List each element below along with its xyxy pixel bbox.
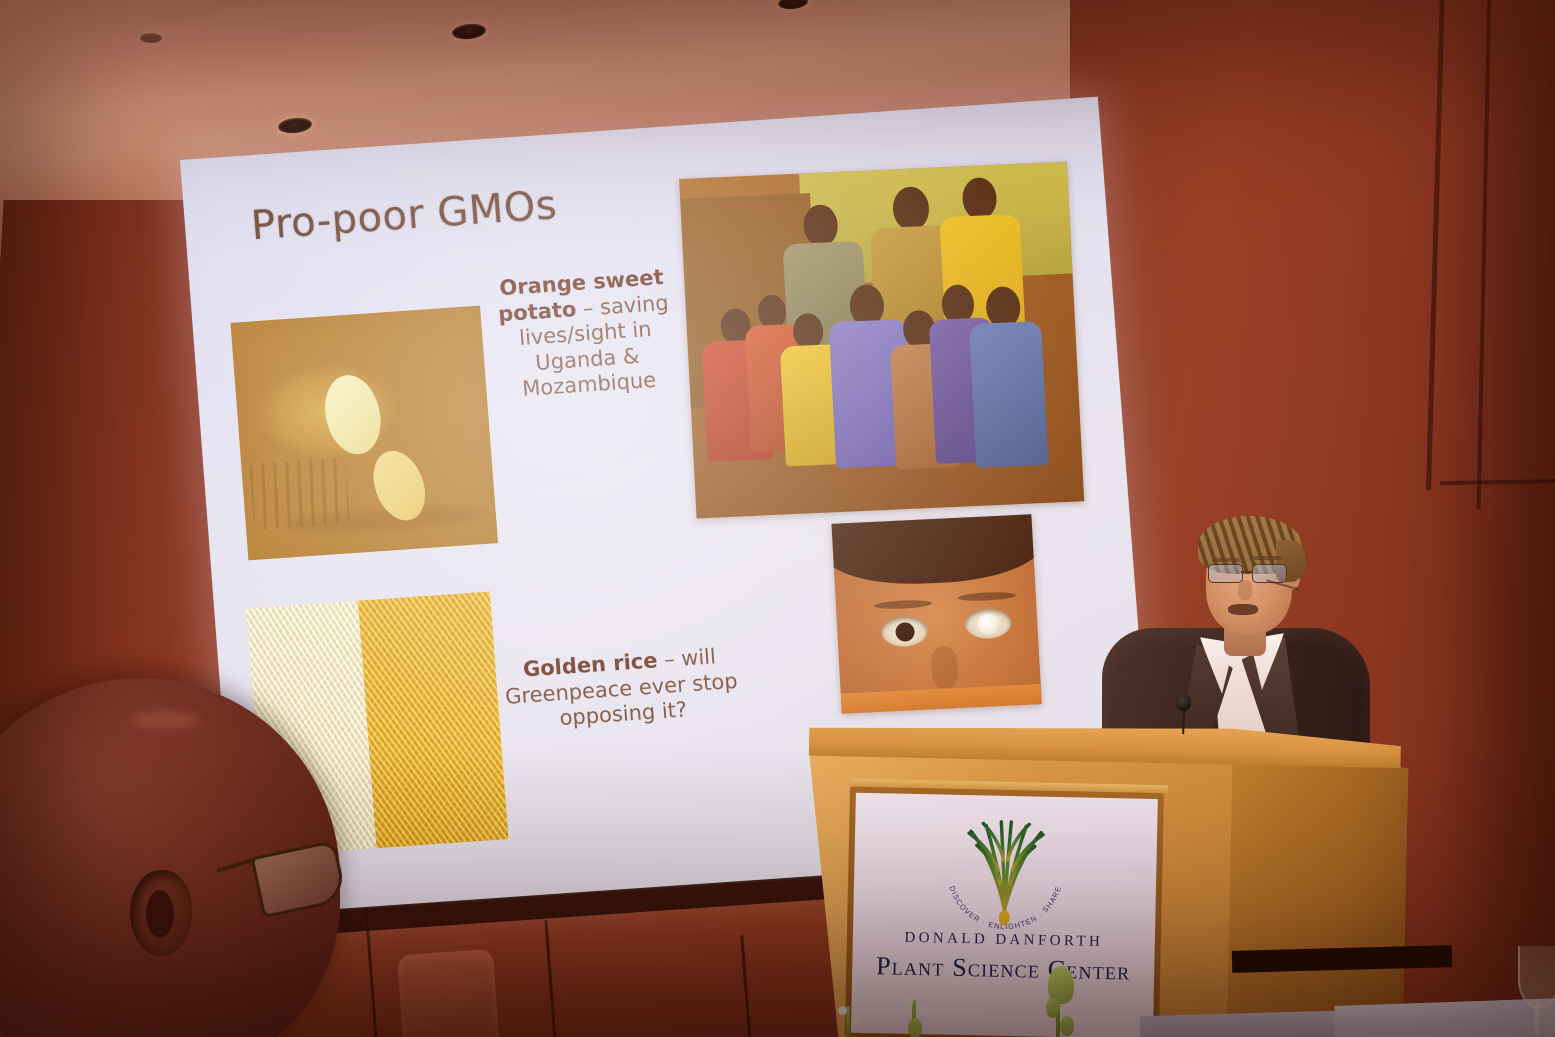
potato-texture bbox=[249, 457, 350, 529]
chair-back bbox=[397, 949, 499, 1037]
glasses-bridge bbox=[1241, 571, 1252, 573]
podium-sign: DISCOVER · ENLIGHTEN · SHARE · NOURISH D… bbox=[851, 793, 1158, 1037]
plant-flower bbox=[838, 1006, 847, 1015]
golden-rice-half bbox=[358, 592, 508, 848]
potato-cut-face bbox=[318, 370, 388, 459]
podium-side-panel bbox=[1221, 743, 1409, 1037]
child-body bbox=[969, 321, 1048, 468]
ear-inner bbox=[146, 890, 174, 938]
lens bbox=[250, 840, 347, 919]
african-family-photo bbox=[679, 162, 1084, 519]
glass-stem bbox=[1535, 1004, 1539, 1034]
eyebrow bbox=[1212, 558, 1240, 562]
microphone-icon bbox=[1176, 694, 1191, 711]
plant-bud bbox=[1060, 1016, 1074, 1036]
plant-flower bbox=[904, 998, 913, 1007]
lens bbox=[1208, 564, 1243, 583]
plant-bud bbox=[1046, 998, 1060, 1018]
nose bbox=[930, 646, 958, 689]
eyeglasses-icon bbox=[1208, 564, 1292, 581]
slide-text-orange-sweet-potato: Orange sweet potato – saving lives/sight… bbox=[486, 264, 685, 405]
plant-flower bbox=[852, 1016, 861, 1025]
wine-glass bbox=[1518, 946, 1555, 1037]
lecture-hall-photo: Pro-poor GMOs bbox=[0, 0, 1555, 1037]
glass-bowl bbox=[1518, 946, 1555, 1008]
podium: DISCOVER · ENLIGHTEN · SHARE · NOURISH D… bbox=[803, 720, 1410, 1037]
plant-flower bbox=[918, 1006, 927, 1015]
nose bbox=[1238, 580, 1252, 600]
plant-bud bbox=[908, 1018, 922, 1037]
podium-sign-line-2: Plant Science Center bbox=[852, 951, 1155, 987]
corneal-opacity bbox=[977, 613, 1000, 635]
downlight-icon bbox=[140, 33, 162, 43]
mouth bbox=[1228, 604, 1258, 615]
eyeglasses-icon bbox=[216, 848, 336, 910]
wall-shading bbox=[1440, 0, 1555, 1037]
danforth-plant-logo-icon: DISCOVER · ENLIGHTEN · SHARE · NOURISH bbox=[929, 804, 1082, 935]
podium-sign-line-1: DONALD DANFORTH bbox=[853, 929, 1155, 952]
child-eye-photo bbox=[831, 514, 1041, 713]
pupil bbox=[895, 622, 915, 642]
sweet-potato-photo bbox=[231, 306, 498, 561]
head-highlight bbox=[130, 712, 200, 728]
eyebrow bbox=[1254, 556, 1282, 560]
